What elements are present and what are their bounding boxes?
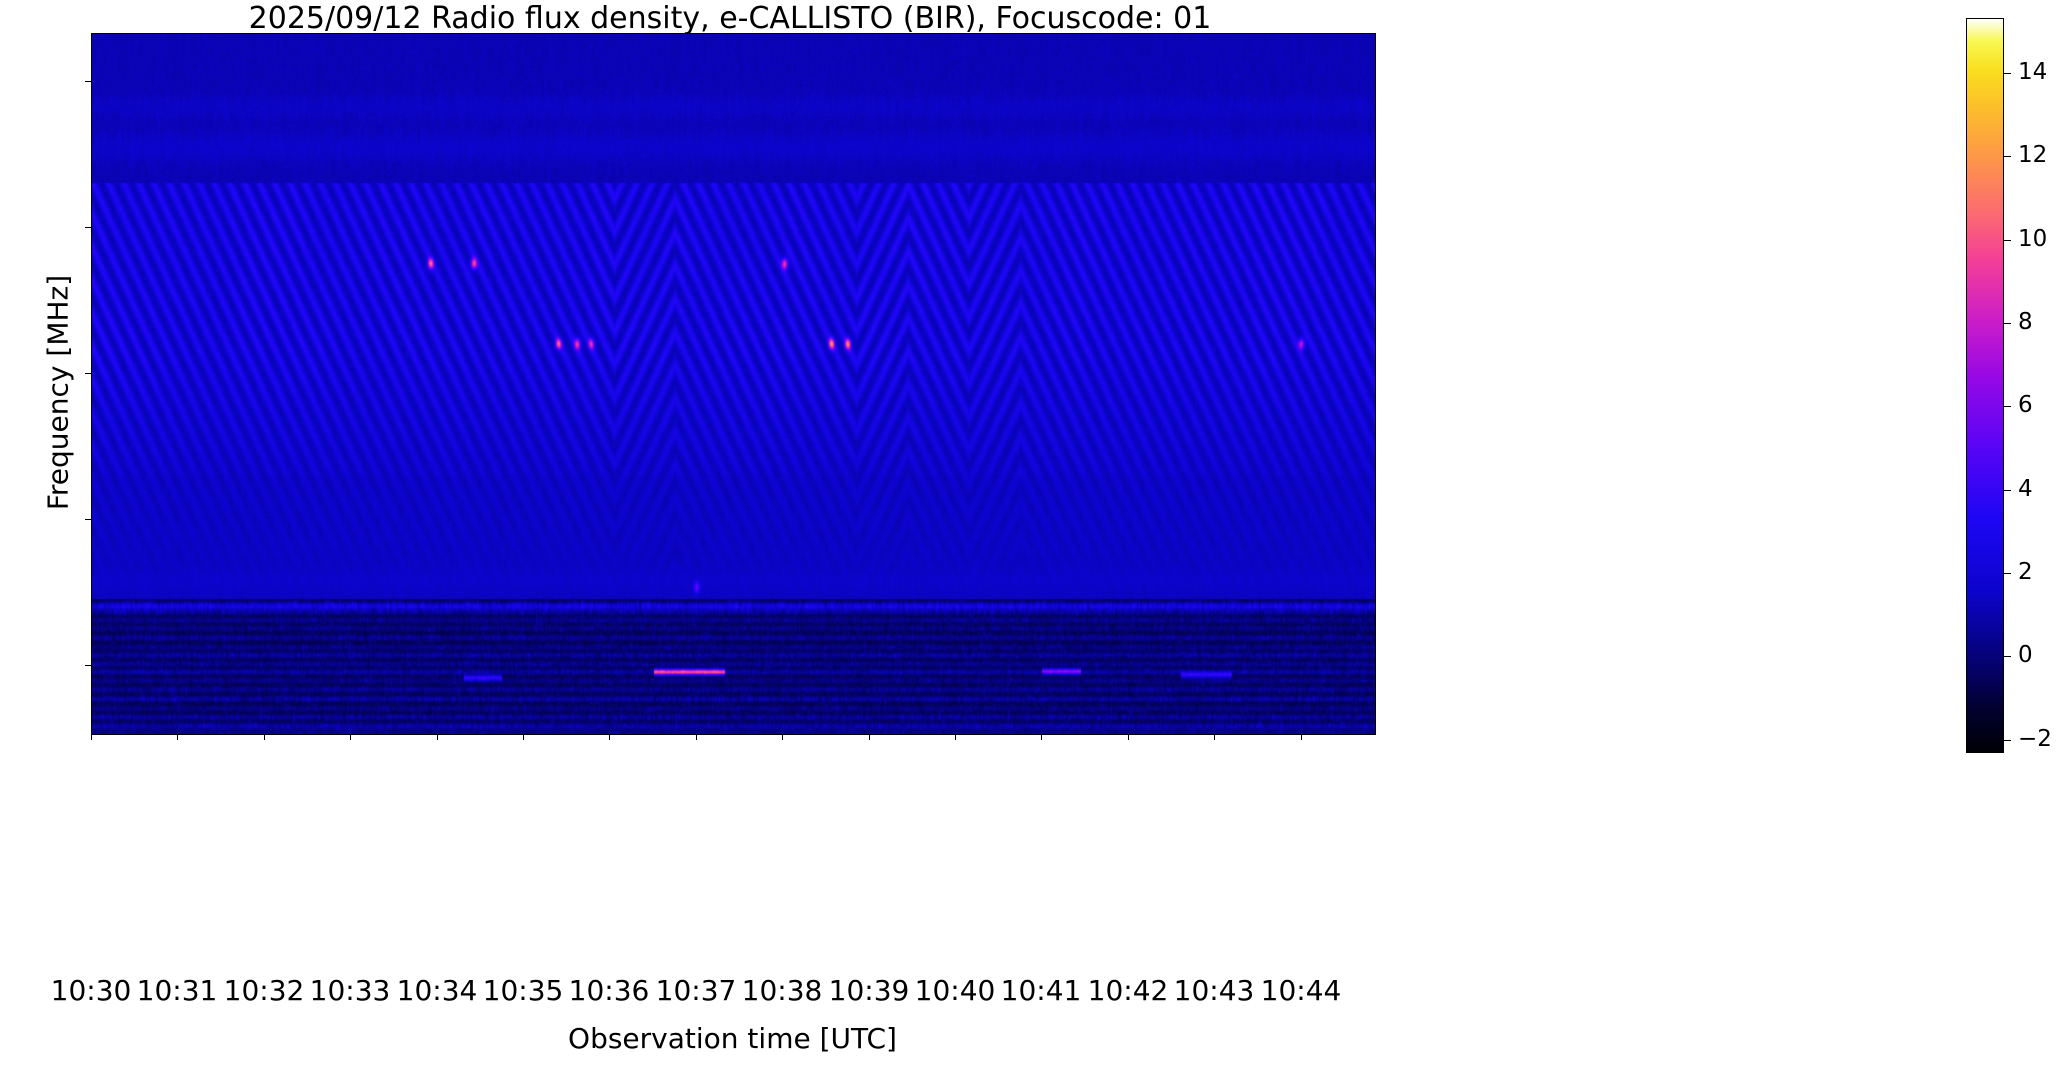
y-tick-mark [85, 519, 91, 520]
x-tick-mark [437, 734, 438, 740]
x-tick-mark [350, 734, 351, 740]
x-tick-label: 10:44 [1201, 976, 1401, 1006]
y-tick-mark [85, 373, 91, 374]
colorbar-tick-label: 12 [2018, 144, 2047, 167]
x-tick-mark [523, 734, 524, 740]
colorbar-tick-mark [2004, 573, 2011, 574]
colorbar-tick-mark [2004, 73, 2011, 74]
colorbar-tick-mark [2004, 740, 2011, 741]
y-axis-label: Frequency [MHz] [42, 43, 75, 743]
x-tick-mark [1214, 734, 1215, 740]
x-tick-mark [609, 734, 610, 740]
y-tick-mark [85, 227, 91, 228]
x-tick-mark [91, 734, 92, 740]
colorbar-tick-mark [2004, 240, 2011, 241]
colorbar-tick-mark [2004, 490, 2011, 491]
colorbar [1966, 18, 2004, 753]
y-tick-mark [85, 665, 91, 666]
colorbar-tick-mark [2004, 323, 2011, 324]
x-tick-mark [869, 734, 870, 740]
colorbar-tick-label: 8 [2018, 311, 2033, 334]
x-axis-label: Observation time [UTC] [91, 1022, 1374, 1055]
colorbar-gradient [1967, 19, 2003, 752]
x-tick-mark [264, 734, 265, 740]
colorbar-tick-label: −2 [2018, 728, 2052, 751]
x-tick-mark [1128, 734, 1129, 740]
spectrogram-image [92, 34, 1375, 734]
x-tick-mark [955, 734, 956, 740]
page-title: 2025/09/12 Radio flux density, e-CALLIST… [0, 2, 1460, 36]
colorbar-tick-label: 0 [2018, 644, 2033, 667]
colorbar-tick-label: 14 [2018, 61, 2047, 84]
spectrogram-plot-area [91, 33, 1376, 735]
colorbar-tick-mark [2004, 406, 2011, 407]
x-tick-mark [1041, 734, 1042, 740]
colorbar-tick-label: 4 [2018, 478, 2033, 501]
colorbar-tick-label: 2 [2018, 561, 2033, 584]
colorbar-tick-label: 10 [2018, 228, 2047, 251]
colorbar-tick-mark [2004, 656, 2011, 657]
colorbar-tick-label: 6 [2018, 394, 2033, 417]
x-tick-mark [1301, 734, 1302, 740]
y-tick-mark [85, 81, 91, 82]
x-tick-mark [696, 734, 697, 740]
x-tick-mark [782, 734, 783, 740]
x-tick-mark [177, 734, 178, 740]
colorbar-tick-mark [2004, 156, 2011, 157]
